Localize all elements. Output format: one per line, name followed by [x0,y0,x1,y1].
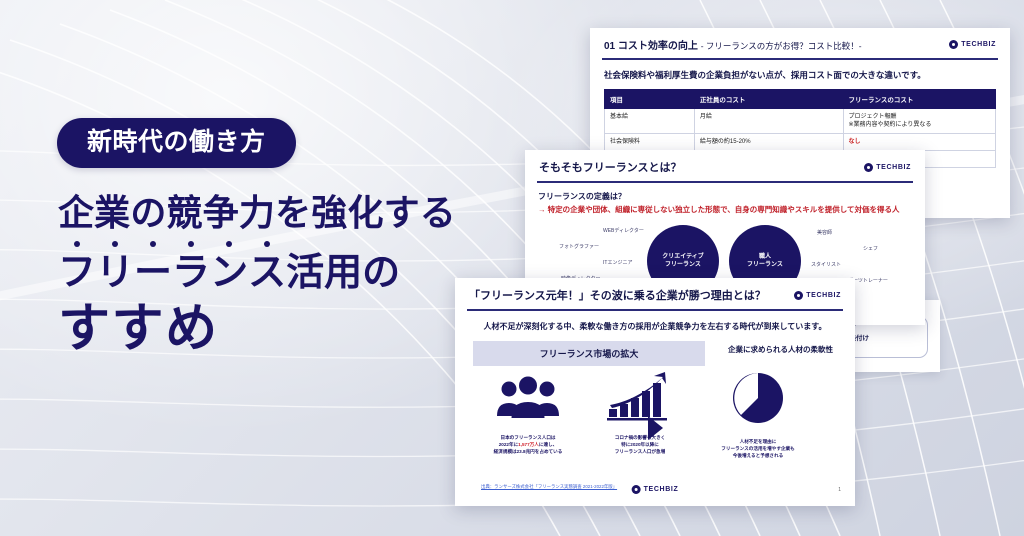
table-row: 基本給 月給 プロジェクト報酬※業務内容や契約により異なる [605,109,996,134]
stat-caption: 人材不足を理由に フリーランスの活用を増やす企業も 今後増えると予想される [703,438,813,459]
label-stylist: スタイリスト [811,261,841,268]
th-freelance-cost: フリーランスのコスト [843,90,996,109]
source-link[interactable]: 出典：ランサーズ株式会社「フリーランス実態調査 2021-2022年版」 [481,484,617,489]
techbiz-mark-icon [794,291,803,300]
slide-collage-canvas: 新時代の働き方 企業の競争力を強化する フリーランス活用の すすめ 01 コスト… [0,0,1024,536]
th-fulltime-cost: 正社員のコスト [694,90,843,109]
caption-highlight: 1,577万人 [518,442,539,447]
headline-char: ン [210,252,248,295]
label-hairdresser: 美容師 [817,229,832,236]
techbiz-logo: TECHBIZ [794,291,841,300]
caption-line-1: 日本のフリーランス人口は [500,435,555,440]
circle-label-line-1: クリエイティブ [662,253,704,261]
headline-char: ス [248,252,286,295]
market-expansion-band: フリーランス市場の拡大 [473,341,705,366]
techbiz-logo: TECHBIZ [864,163,911,172]
stat-caption: コロナ禍の影響も大きく 特に2020年以降に フリーランス人口が急増 [585,434,695,455]
cell-item: 社会保険料 [605,134,695,151]
definition-answer: → 特定の企業や団体、組織に専従しない独立した形態で、自身の専門知識やスキルを提… [538,204,912,215]
cost-header-divider [602,58,998,60]
headline-line-1: 企業の競争力を強化する [58,192,488,234]
techbiz-wordmark: TECHBIZ [961,41,996,48]
circle-label-line-2: フリーランス [747,261,783,269]
cell-fulltime: 給与額の約15-20% [694,134,843,151]
caption-line-3: フリーランス人口が急増 [615,449,665,454]
page-number: 1 [838,487,841,493]
people-group-icon [495,376,561,422]
label-photographer: フォトグラファー [559,243,599,250]
techbiz-logo-footer: TECHBIZ [632,485,679,494]
cost-lead-text: 社会保険料や福利厚生費の企業負担がない点が、採用コスト面での大きな違いです。 [604,69,996,81]
headline-char: フ [58,252,96,295]
reason-lead-text: 人材不足が深刻化する中、柔軟な働き方の採用が企業競争力を左右する時代が到来してい… [455,321,855,332]
caption-line-2: フリーランスの活用を増やす企業も [721,446,794,451]
definition-question: フリーランスの定義は？ [538,191,912,202]
cell-fulltime: 月給 [694,109,843,134]
table-row: 社会保険料 給与額の約15-20% なし [605,134,996,151]
caption-line-2: 特に2020年以降に [621,442,659,447]
definition-slide-header: そもそもフリーランスとは？ TECHBIZ [525,150,925,181]
stat-company-adoption: 人材不足を理由に フリーランスの活用を増やす企業も 今後増えると予想される [703,370,813,459]
caption-line-3: 経済規模は23.8兆円を占めている [494,449,563,454]
headline-line-3: すすめ [58,301,488,358]
cell-item: 基本給 [605,109,695,134]
cost-subtitle-text: - フリーランスの方がお得？コスト比較！- [701,41,862,51]
stat-freelance-population: 日本のフリーランス人口は 2022年に1,577万人に達し、 経済規模は23.8… [473,376,583,455]
headline-char: 活 [286,252,324,295]
source-citation: 出典：ランサーズ株式会社「フリーランス実態調査 2021-2022年版」 [481,484,617,490]
headline-char: リ [96,252,134,295]
label-chef: シェフ [863,245,878,252]
reason-slide-footer: 出典：ランサーズ株式会社「フリーランス実態調査 2021-2022年版」 TEC… [455,480,855,506]
cost-title-text: 01 コスト効率の向上 [604,41,698,52]
headline-char: の [362,252,400,295]
techbiz-logo: TECHBIZ [949,40,996,49]
bar-chart-growth-icon [605,372,675,422]
stat-covid-growth: コロナ禍の影響も大きく 特に2020年以降に フリーランス人口が急増 [585,372,695,455]
ghost-line-2: 定義付け [843,333,927,344]
headline-char: ラ [172,252,210,295]
hero-headline: 企業の競争力を強化する フリーランス活用の すすめ [58,192,488,358]
label-web-director: WEBディレクター [603,227,644,234]
caption-line-1: 人材不足を理由に [740,439,777,444]
hero-badge: 新時代の働き方 [57,118,296,168]
cost-slide-header: 01 コスト効率の向上 - フリーランスの方がお得？コスト比較！- TECHBI… [590,28,1010,58]
techbiz-mark-icon [949,40,958,49]
headline-char: 用 [324,252,362,295]
caption-line-3: 今後増えると予想される [733,453,783,458]
reason-slide-header: 「フリーランス元年！」その波に乗る企業が勝つ理由とは？ TECHBIZ [455,278,855,309]
reason-slide-title: 「フリーランス元年！」その波に乗る企業が勝つ理由とは？ [469,287,766,303]
cost-slide-title: 01 コスト効率の向上 - フリーランスの方がお得？コスト比較！- [604,37,862,52]
definition-header-divider [537,181,913,183]
caption-line-1: コロナ禍の影響も大きく [615,435,666,440]
table-header-row: 項目 正社員のコスト フリーランスのコスト [605,90,996,109]
headline-char: ー [134,252,172,295]
circle-label-line-2: フリーランス [662,261,704,269]
reason-header-divider [467,309,843,311]
definition-slide-title: そもそもフリーランスとは？ [539,159,682,175]
techbiz-wordmark: TECHBIZ [806,292,841,299]
techbiz-mark-icon [632,485,641,494]
cell-freelance: なし [843,134,996,151]
stat-caption: 日本のフリーランス人口は 2022年に1,577万人に達し、 経済規模は23.8… [473,434,583,455]
flexibility-heading: 企業に求められる人材の柔軟性 [728,344,833,355]
cell-freelance: プロジェクト報酬※業務内容や契約により異なる [843,109,996,134]
techbiz-wordmark: TECHBIZ [876,164,911,171]
pie-chart-icon [728,370,788,426]
headline-line-2: フリーランス活用の [58,252,488,295]
techbiz-mark-icon [864,163,873,172]
label-it-engineer: ITエンジニア [603,259,632,266]
circle-label-line-1: 職人 [747,253,783,261]
th-item: 項目 [605,90,695,109]
techbiz-wordmark: TECHBIZ [644,486,679,493]
slide-card-freelance-first-year[interactable]: 「フリーランス元年！」その波に乗る企業が勝つ理由とは？ TECHBIZ 人材不足… [455,278,855,506]
reason-stats-row: 日本のフリーランス人口は 2022年に1,577万人に達し、 経済規模は23.8… [455,366,855,498]
